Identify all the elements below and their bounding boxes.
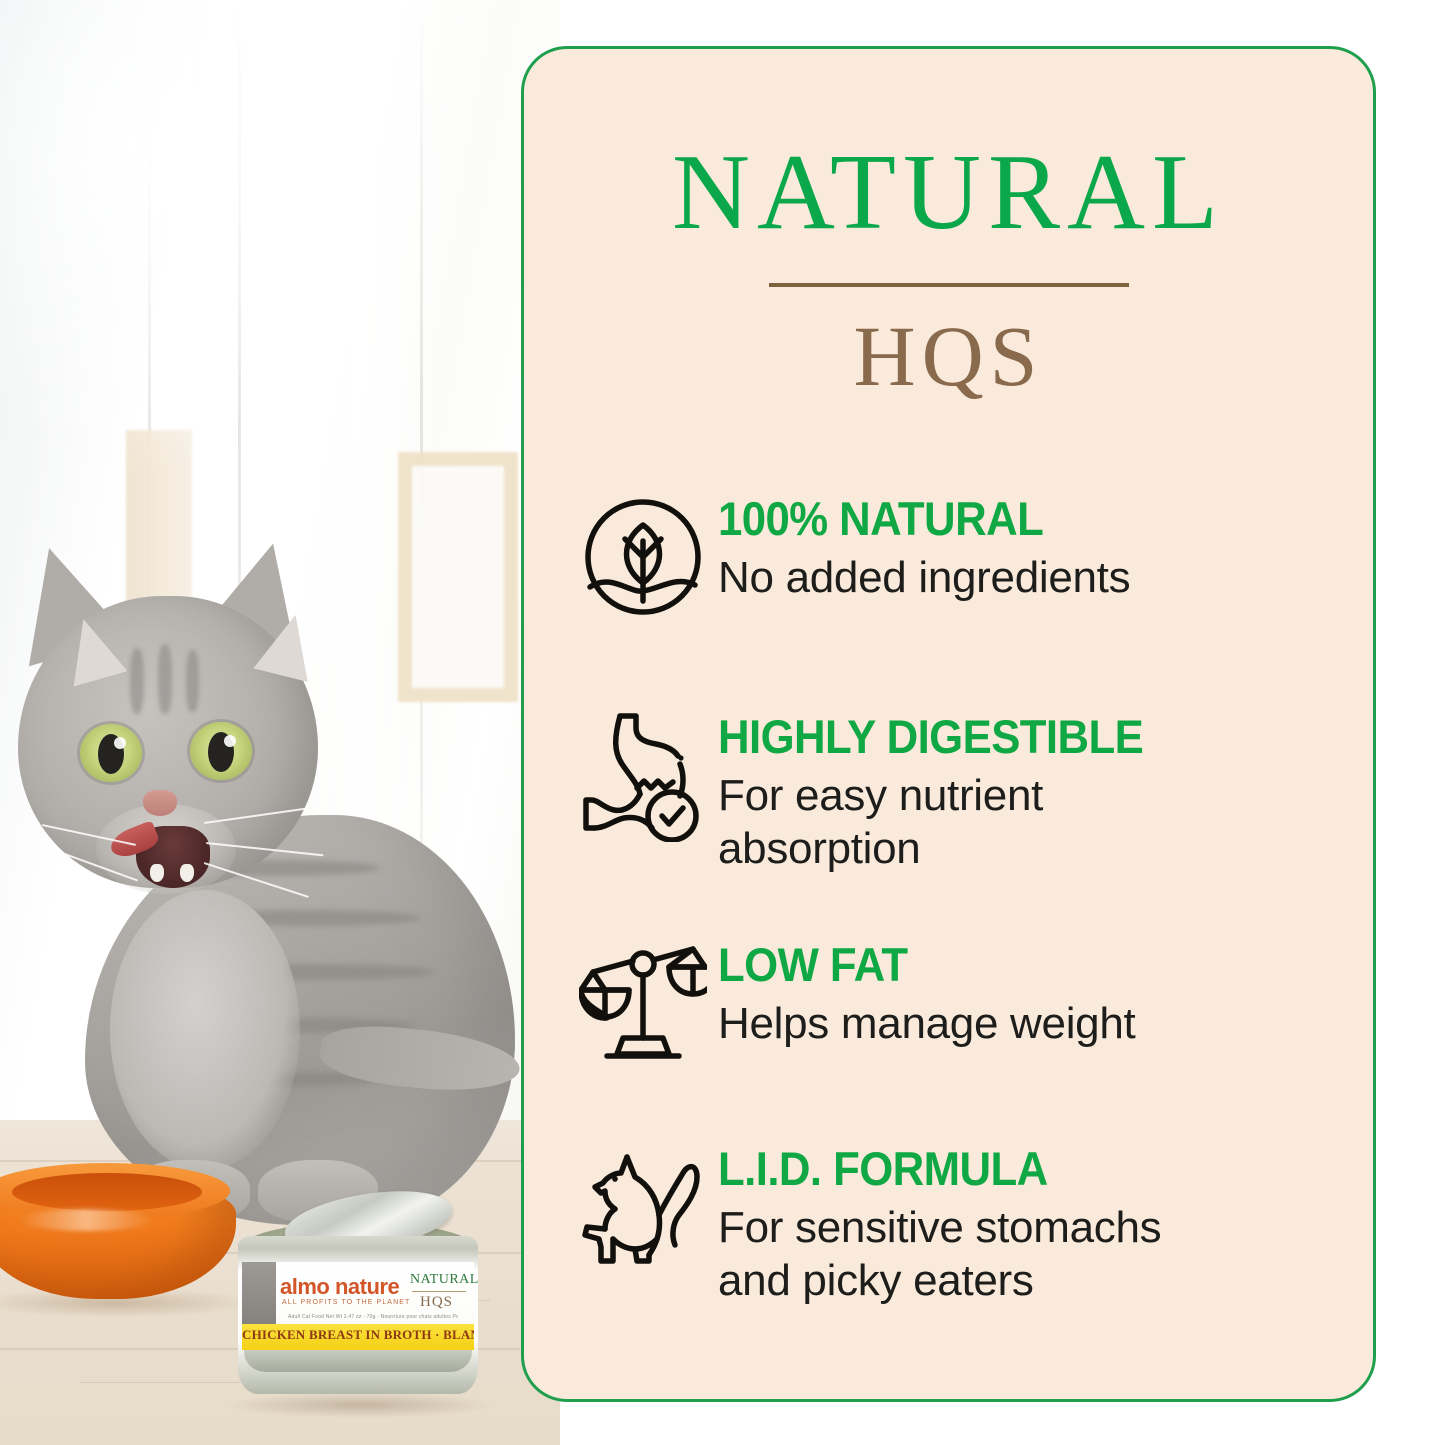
orange-pet-bowl [0,1163,236,1305]
sitting-cat-icon [568,1141,718,1273]
feature-title: HIGHLY DIGESTIBLE [718,713,1296,762]
card-header: NATURAL HQS [524,49,1373,399]
feature-text-lowfat: LOW FAT Helps manage weight [718,937,1339,1051]
brand-subtitle: HQS [524,313,1373,399]
stomach-check-icon [568,709,718,841]
can-natural-text: NATURAL [410,1272,479,1288]
infographic-canvas: almo nature ALL PROFITS TO THE PLANET NA… [0,0,1445,1445]
feature-list: 100% NATURAL No added ingredients [524,491,1373,1308]
feature-subtitle: No added ingredients [718,552,1339,605]
balance-scale-icon [568,937,718,1069]
product-lifestyle-photo: almo nature ALL PROFITS TO THE PLANET NA… [0,0,560,1445]
leaf-circle-icon [568,491,718,623]
title-divider [769,283,1129,287]
feature-subtitle-line: absorption [718,823,1339,876]
can-tagline: ALL PROFITS TO THE PLANET [282,1299,432,1306]
cat-photo-subject [0,560,530,1260]
cat-nose [143,790,177,816]
brand-title: NATURAL [524,139,1373,247]
feature-text-natural: 100% NATURAL No added ingredients [718,491,1339,605]
feature-subtitle-line: and picky eaters [718,1255,1339,1308]
feature-subtitle-line: No added ingredients [718,552,1339,605]
feature-title: LOW FAT [718,941,1296,990]
can-fineprint: Adult Cat Food Net Wt 2.47 oz - 70g · No… [288,1314,458,1320]
opened-food-can: almo nature ALL PROFITS TO THE PLANET NA… [238,1198,478,1408]
window-light-bloom [0,0,360,480]
feature-subtitle-line: For sensitive stomachs [718,1202,1339,1255]
cat-eye-right [190,722,252,780]
cat-head [18,596,318,888]
can-hqs-text: HQS [420,1294,453,1311]
can-brand-name: almo nature [280,1276,430,1298]
feature-subtitle: For easy nutrient absorption [718,770,1339,876]
feature-row-digestible: HIGHLY DIGESTIBLE For easy nutrient abso… [568,709,1339,875]
feature-subtitle-line: For easy nutrient [718,770,1339,823]
feature-subtitle: Helps manage weight [718,998,1339,1051]
feature-row-lowfat: LOW FAT Helps manage weight [568,937,1339,1069]
benefits-card: NATURAL HQS 100% NATURAL [521,46,1376,1402]
feature-text-digestible: HIGHLY DIGESTIBLE For easy nutrient abso… [718,709,1339,875]
cat-eye-left [80,724,142,782]
feature-row-lid: L.I.D. FORMULA For sensitive stomachs an… [568,1141,1339,1307]
cat-chest [110,890,300,1170]
feature-text-lid: L.I.D. FORMULA For sensitive stomachs an… [718,1141,1339,1307]
can-flavor-text: CHICKEN BREAST IN BROTH · BLANC DE POULE… [242,1327,474,1343]
feature-subtitle-line: Helps manage weight [718,998,1339,1051]
feature-title: 100% NATURAL [718,495,1296,544]
feature-subtitle: For sensitive stomachs and picky eaters [718,1202,1339,1308]
feature-row-natural: 100% NATURAL No added ingredients [568,491,1339,623]
feature-title: L.I.D. FORMULA [718,1145,1296,1194]
